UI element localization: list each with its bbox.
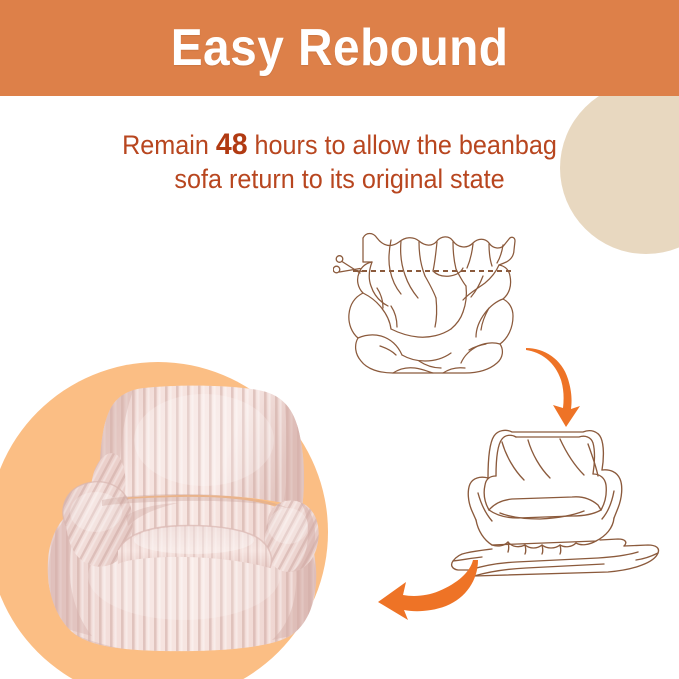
subtitle-hours-value: 48 xyxy=(216,128,248,161)
arrow-left-icon xyxy=(374,558,480,624)
packed-bag-illustration xyxy=(333,228,548,383)
page-title: Easy Rebound xyxy=(171,22,509,74)
subtitle-text-before: Remain xyxy=(122,130,216,160)
arrow-down-icon xyxy=(524,343,604,429)
subtitle-block: Remain 48 hours to allow the beanbag sof… xyxy=(0,128,679,196)
product-photo-beanbag-chair xyxy=(22,368,344,658)
subtitle-line-2: sofa return to its original state xyxy=(17,162,662,196)
subtitle-line-1: Remain 48 hours to allow the beanbag xyxy=(17,128,662,162)
unpacked-beanbag-illustration xyxy=(448,418,676,583)
scissors-icon xyxy=(333,256,363,273)
infographic-root: Easy Rebound Remain 48 hours to allow th… xyxy=(0,0,679,679)
subtitle-text-after: hours to allow the beanbag xyxy=(248,130,557,160)
header-banner: Easy Rebound xyxy=(0,0,679,96)
